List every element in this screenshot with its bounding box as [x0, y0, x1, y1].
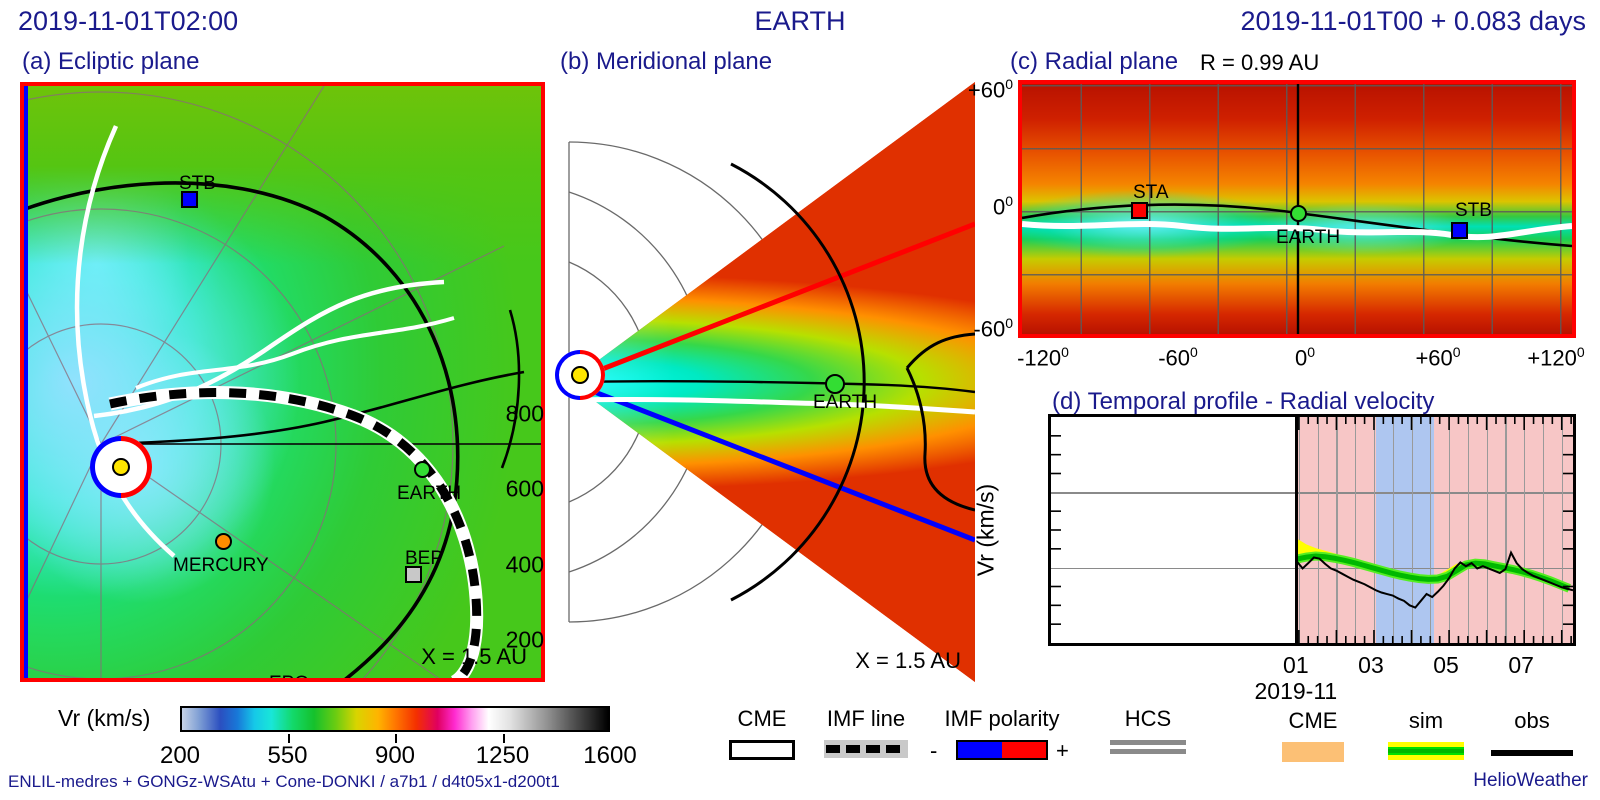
- panel-c-y-tick: -600: [965, 315, 1013, 342]
- colorbar-tick-value: 550: [267, 742, 307, 770]
- panel-c-title: (c) Radial plane: [1010, 48, 1178, 76]
- panel-b-scale-label: X = 1.5 AU: [855, 648, 961, 674]
- legend-swatch-cme-fill: [1282, 742, 1344, 762]
- colorbar-gradient: [180, 706, 610, 732]
- panel-d-title: (d) Temporal profile - Radial velocity: [1052, 388, 1434, 416]
- panel-d-x-tick: 03: [1358, 652, 1384, 679]
- legend-swatch-hcs: [1110, 740, 1186, 758]
- panel-c-radial-plane[interactable]: STAEARTHSTB: [1018, 80, 1576, 338]
- legend-label-imf-line: IMF line: [827, 706, 905, 732]
- panel-d-temporal-profile[interactable]: [1048, 414, 1576, 646]
- panel-d-y-axis-label: Vr (km/s): [973, 484, 1000, 576]
- polarity-negative: [958, 742, 1002, 758]
- legend-swatch-imf-polarity: [956, 740, 1048, 760]
- header-right-datetime: 2019-11-01T00 + 0.083 days: [1240, 6, 1586, 37]
- panel-d-y-tick: 800: [506, 401, 544, 428]
- panel-b-earth-label: EARTH: [813, 392, 877, 414]
- legend-label-hcs: HCS: [1125, 706, 1171, 732]
- legend-label-obs: obs: [1514, 708, 1549, 734]
- legend-swatch-sim: [1388, 742, 1464, 760]
- legend-swatch-obs: [1491, 750, 1573, 756]
- panel-c-x-tick: +600: [1415, 344, 1460, 371]
- body-label-mercury: MERCURY: [173, 555, 269, 577]
- body-label-stb: STB: [179, 173, 216, 195]
- legend-label-sim: sim: [1409, 708, 1443, 734]
- footer-brand: HelioWeather: [1473, 770, 1588, 792]
- legend-swatch-imf-line: [824, 740, 908, 758]
- panel-c-y-tick: 00: [965, 193, 1013, 220]
- panel-b-title: (b) Meridional plane: [560, 48, 772, 76]
- polarity-minus-sign: -: [930, 738, 937, 764]
- panel-d-x-tick: 07: [1508, 652, 1534, 679]
- panel-d-x-tick: 01: [1283, 652, 1309, 679]
- panel-c-radius-label: R = 0.99 AU: [1200, 50, 1319, 76]
- panel-c-y-tick: +600: [965, 76, 1013, 103]
- polarity-positive: [1002, 742, 1046, 758]
- body-label-sta: STA: [1133, 182, 1169, 204]
- body-marker-mercury: [215, 533, 232, 550]
- panel-d-y-tick: 200: [506, 627, 544, 654]
- body-marker-sta: [1131, 202, 1148, 219]
- body-label-earth: EARTH: [1276, 227, 1340, 249]
- header-left-datetime: 2019-11-01T02:00: [18, 6, 238, 37]
- panel-c-right-border-polarity: [1572, 209, 1576, 338]
- panel-b-meridional-plane[interactable]: EARTH X = 1.5 AU: [555, 82, 975, 682]
- panel-a-field: STBEARTHMERCURYBEPEPOPSPSTAKEP X = 1.5 A…: [24, 86, 541, 678]
- panel-c-x-tick: -600: [1158, 344, 1198, 371]
- body-label-epo: EPO: [269, 673, 309, 682]
- panel-c-x-tick: 00: [1295, 344, 1315, 371]
- panel-a-overlays: [24, 86, 545, 682]
- legend-label-imf-polarity: IMF polarity: [945, 706, 1060, 732]
- sun-marker-a: [90, 436, 152, 498]
- panel-d-x-tick: 05: [1433, 652, 1459, 679]
- panel-c-bottom-border-polarity: [1018, 334, 1576, 338]
- legend-swatch-cme-outline: [729, 740, 795, 760]
- panel-b-overlays: [555, 82, 975, 682]
- sun-core-icon-a: [112, 458, 130, 476]
- legend-label-cme: CME: [738, 706, 787, 732]
- legend-label-cme: CME: [1289, 708, 1338, 734]
- colorbar-label: Vr (km/s): [58, 705, 150, 732]
- colorbar-tick-value: 200: [160, 742, 200, 770]
- panel-d-x-axis-label: 2019-11: [1254, 678, 1337, 705]
- colorbar-tick-value: 1250: [476, 742, 529, 770]
- body-marker-stb: [1451, 222, 1468, 239]
- header-center-title: EARTH: [660, 6, 940, 37]
- panel-d-y-tick: 400: [506, 551, 544, 578]
- panel-d-y-tick: 600: [506, 476, 544, 503]
- sun-core-icon-b: [571, 366, 589, 384]
- panel-a-ecliptic-plane[interactable]: STBEARTHMERCURYBEPEPOPSPSTAKEP X = 1.5 A…: [20, 82, 545, 682]
- panel-c-x-tick: -1200: [1017, 344, 1069, 371]
- body-label-stb: STB: [1455, 200, 1492, 222]
- body-marker-earth: [1290, 205, 1307, 222]
- polarity-plus-sign: +: [1056, 738, 1069, 764]
- panel-a-title: (a) Ecliptic plane: [22, 48, 199, 76]
- panel-d-axis-ticks: [1051, 417, 1573, 643]
- colorbar-tick-value: 900: [375, 742, 415, 770]
- footer-model-string: ENLIL-medres + GONGz-WSAtu + Cone-DONKI …: [8, 772, 560, 792]
- colorbar-tick-value: 1600: [583, 742, 636, 770]
- body-marker-earth: [414, 461, 431, 478]
- body-label-bep: BEP: [405, 548, 443, 570]
- panel-c-x-tick: +1200: [1527, 344, 1584, 371]
- panel-a-left-border-polarity: [24, 86, 28, 678]
- body-label-earth: EARTH: [397, 483, 461, 505]
- sun-marker-b: [555, 350, 605, 400]
- panel-c-left-border-polarity: [1018, 209, 1022, 338]
